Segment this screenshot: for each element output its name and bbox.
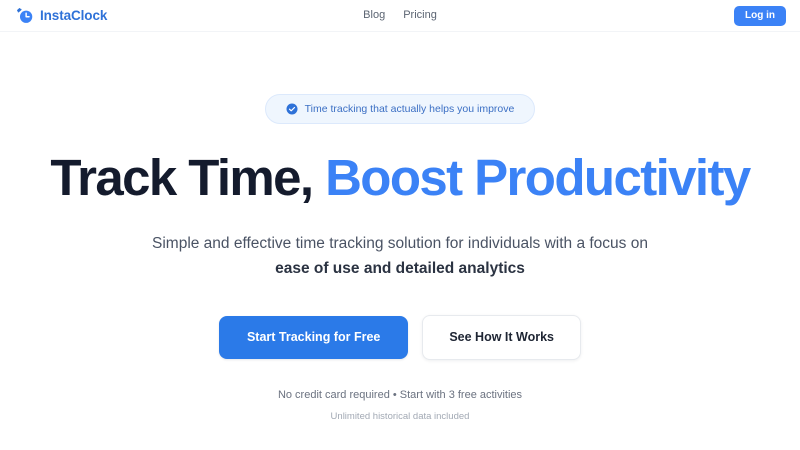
page-title-plain: Track Time,: [50, 149, 325, 206]
cta-row: Start Tracking for Free See How It Works: [0, 315, 800, 360]
hero-section: Time tracking that actually helps you im…: [0, 32, 800, 421]
hero-subtitle-line1: Simple and effective time tracking solut…: [152, 235, 648, 252]
start-tracking-button[interactable]: Start Tracking for Free: [219, 316, 408, 359]
see-how-it-works-button[interactable]: See How It Works: [422, 315, 581, 360]
hero-note-secondary: Unlimited historical data included: [0, 412, 800, 422]
check-circle-icon: [286, 103, 298, 115]
main-nav: Blog Pricing: [363, 10, 437, 21]
clock-icon: [16, 7, 34, 25]
login-button[interactable]: Log in: [734, 6, 786, 26]
site-header: InstaClock Blog Pricing Log in: [0, 0, 800, 32]
hero-badge: Time tracking that actually helps you im…: [265, 94, 536, 124]
hero-note-primary: No credit card required • Start with 3 f…: [0, 390, 800, 401]
page-title-accent: Boost Productivity: [325, 149, 750, 206]
brand-name: InstaClock: [40, 9, 107, 23]
nav-link-pricing[interactable]: Pricing: [403, 10, 437, 21]
hero-subtitle: Simple and effective time tracking solut…: [0, 231, 800, 281]
page-title: Track Time, Boost Productivity: [0, 150, 800, 205]
brand-logo[interactable]: InstaClock: [16, 7, 107, 25]
hero-subtitle-line2: ease of use and detailed analytics: [0, 256, 800, 281]
hero-badge-label: Time tracking that actually helps you im…: [305, 104, 515, 115]
nav-link-blog[interactable]: Blog: [363, 10, 385, 21]
